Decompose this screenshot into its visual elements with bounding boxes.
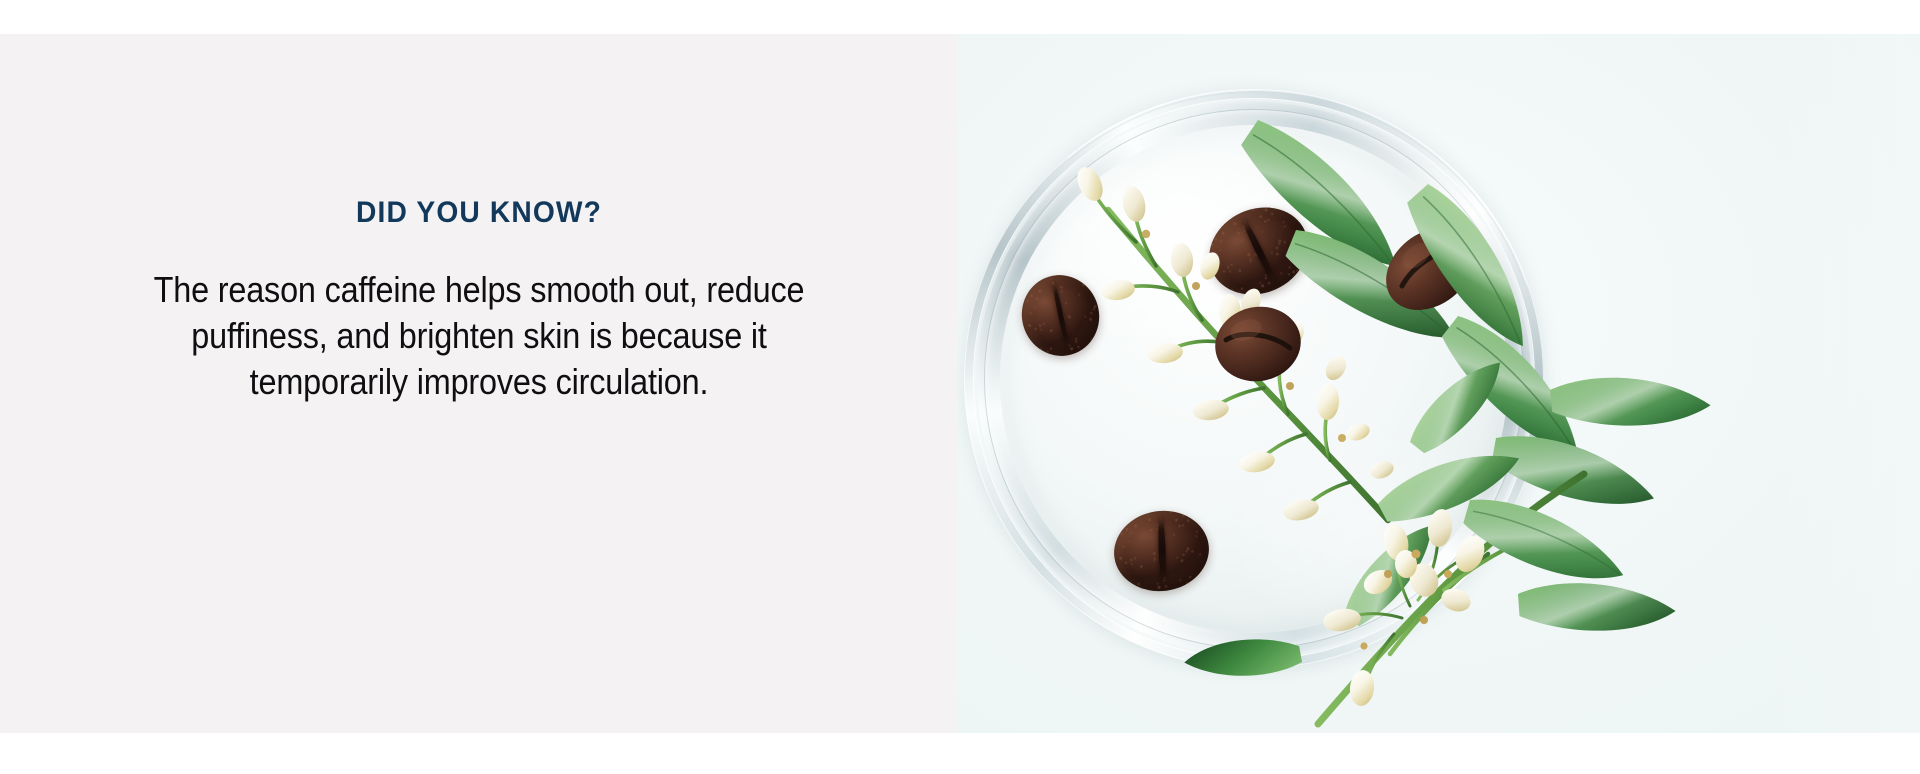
- text-block: DID YOU KNOW? The reason caffeine helps …: [129, 196, 829, 405]
- content-band: DID YOU KNOW? The reason caffeine helps …: [0, 34, 1920, 733]
- did-you-know-banner: DID YOU KNOW? The reason caffeine helps …: [0, 0, 1920, 774]
- petri-dish: [964, 89, 1544, 669]
- dish-rim-shadow-arc: [964, 89, 1544, 669]
- body-paragraph: The reason caffeine helps smooth out, re…: [146, 267, 812, 405]
- photo-panel: [958, 34, 1920, 733]
- petri-dish-photo: [958, 34, 1920, 733]
- text-panel: DID YOU KNOW? The reason caffeine helps …: [0, 34, 958, 733]
- page-title: DID YOU KNOW?: [150, 196, 808, 229]
